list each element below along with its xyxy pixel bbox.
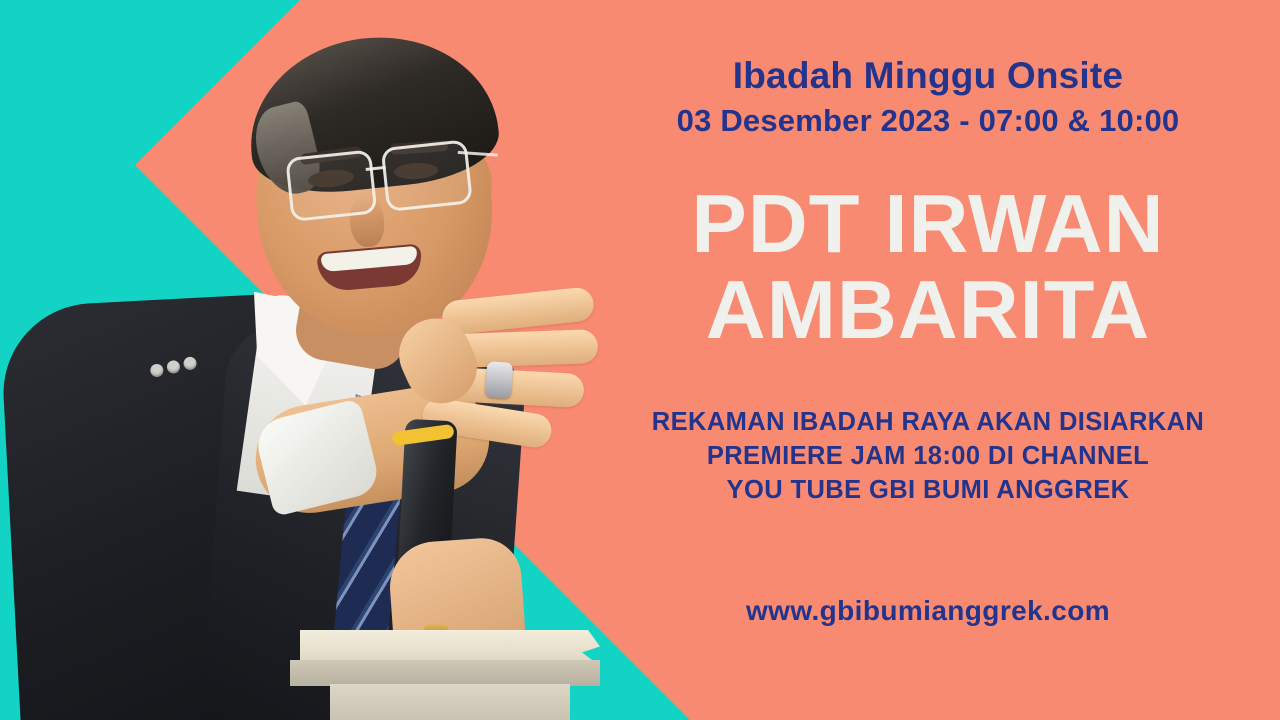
text-content-column: Ibadah Minggu Onsite 03 Desember 2023 - …: [592, 0, 1264, 720]
event-title: Ibadah Minggu Onsite: [733, 56, 1123, 95]
broadcast-notice: REKAMAN IBADAH RAYA AKAN DISIARKAN PREMI…: [652, 406, 1204, 507]
speaker-name-line1: PDT IRWAN: [691, 181, 1164, 266]
lens-left: [285, 149, 377, 222]
broadcast-notice-line3: YOU TUBE GBI BUMI ANGGREK: [652, 474, 1204, 508]
speaker-name-line2: AMBARITA: [691, 267, 1164, 352]
website-url[interactable]: www.gbibumianggrek.com: [746, 595, 1110, 627]
pulpit-edge: [290, 660, 600, 686]
broadcast-notice-line1: REKAMAN IBADAH RAYA AKAN DISIARKAN: [652, 406, 1204, 440]
broadcast-notice-line2: PREMIERE JAM 18:00 DI CHANNEL: [652, 440, 1204, 474]
finger-ring-jewelry: [485, 361, 513, 399]
church-service-announcement-poster: Ibadah Minggu Onsite 03 Desember 2023 - …: [0, 0, 1280, 720]
pulpit-body: [330, 684, 570, 720]
event-date: 03 Desember 2023 - 07:00 & 10:00: [677, 103, 1180, 139]
finger-index: [441, 286, 596, 336]
speaker-name: PDT IRWAN AMBARITA: [691, 181, 1164, 352]
